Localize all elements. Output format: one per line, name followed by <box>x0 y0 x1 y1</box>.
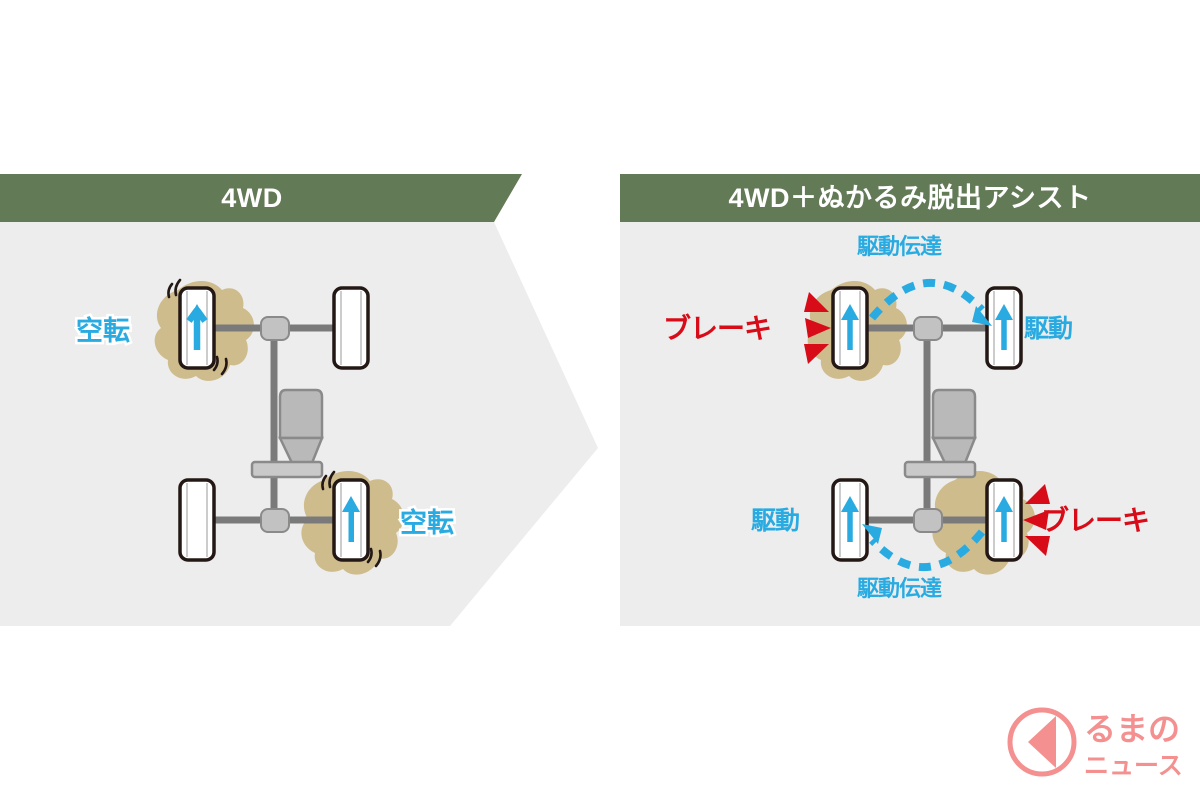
wheel-front-left <box>833 288 867 368</box>
panel-left-title: 4WD <box>221 185 283 212</box>
wheel-rear-right <box>987 480 1021 560</box>
differential-front <box>914 317 942 340</box>
panel-left-header-shape <box>0 174 600 222</box>
chevron-left-in-circle-icon <box>1010 710 1074 774</box>
differential-rear <box>261 509 289 532</box>
label-spin-rear-right: 空転 空転 <box>400 510 454 537</box>
logo-svg: るまの ニュース <box>1006 700 1186 784</box>
drivetrain-diagram-right <box>620 222 1200 626</box>
label-drive-front-right: 駆動 <box>1024 317 1072 342</box>
kuruma-news-logo: るまの ニュース <box>1006 700 1186 784</box>
illustration-canvas: 4WD <box>0 0 1200 800</box>
engine-transmission-unit <box>252 390 322 477</box>
wheel-rear-left <box>180 480 214 560</box>
logo-line2: ニュース <box>1084 752 1183 780</box>
engine-transmission-unit <box>905 390 975 477</box>
wheel-rear-right <box>334 480 368 560</box>
label-spin-front-left: 空転 空転 <box>76 318 130 345</box>
panel-right-body: 駆動伝達 ブレーキ 駆動 駆動 ブレーキ 駆動伝達 <box>620 222 1200 626</box>
label-drive-rear-left: 駆動 <box>751 509 799 534</box>
differential-rear <box>914 509 942 532</box>
wheel-rear-left <box>833 480 867 560</box>
logo-line1: るまの <box>1084 711 1180 747</box>
wheel-front-right <box>987 288 1021 368</box>
panel-right-title: 4WD＋ぬかるみ脱出アシスト <box>729 185 1092 212</box>
wheel-front-left <box>180 288 214 368</box>
label-brake-front-left: ブレーキ <box>663 315 771 343</box>
label-brake-rear-right: ブレーキ <box>1041 507 1149 535</box>
label-drive-transfer-rear: 駆動伝達 <box>857 578 941 600</box>
label-drive-transfer-front: 駆動伝達 <box>857 236 941 258</box>
panel-4wd-assist: 4WD＋ぬかるみ脱出アシスト <box>620 174 1200 626</box>
drivetrain-diagram-left <box>0 222 600 626</box>
panel-4wd: 4WD <box>0 174 600 626</box>
panel-left-body: 空転 空転 空転 空転 <box>0 222 600 626</box>
differential-front <box>261 317 289 340</box>
wheel-front-right <box>334 288 368 368</box>
